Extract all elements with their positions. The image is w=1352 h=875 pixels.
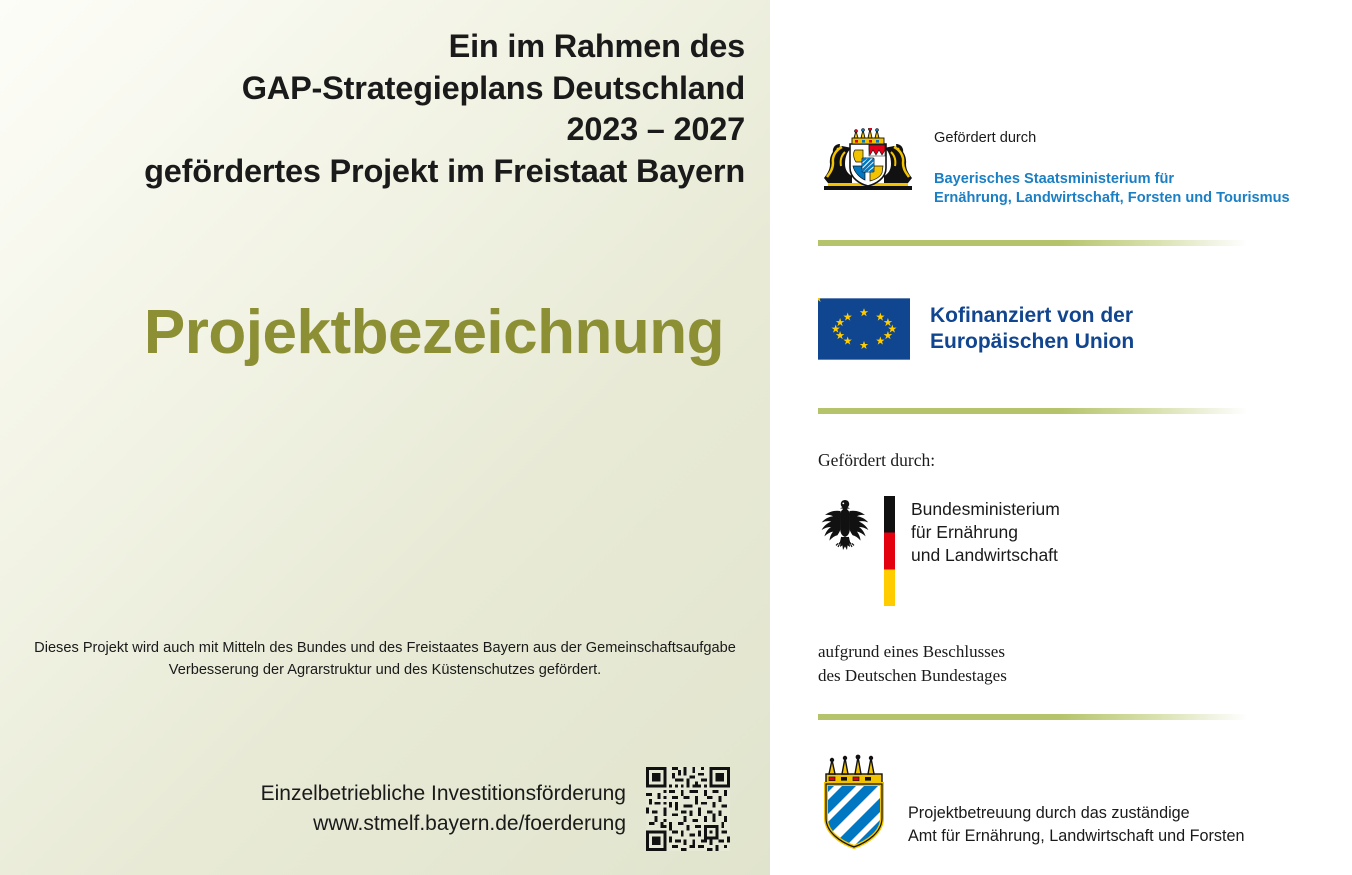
bundestag-resolution-text: aufgrund eines Beschlusses des Deutschen…	[818, 640, 1007, 688]
right-panel: Gefördert durch Bayerisches Staatsminist…	[770, 0, 1352, 875]
headline-line-2: GAP-Strategieplans Deutschland	[20, 68, 745, 110]
funding-note: Dieses Projekt wird auch mit Mitteln des…	[24, 638, 746, 682]
bavarian-greater-coat-of-arms-icon	[818, 128, 918, 194]
bmel-funded-by-label: Gefördert durch:	[818, 450, 935, 471]
headline-line-4: gefördertes Projekt im Freistaat Bayern	[20, 151, 745, 193]
aelf-block: Projektbetreuung durch das zuständige Am…	[818, 752, 1245, 852]
stmelf-logo-block: Gefördert durch Bayerisches Staatsminist…	[818, 128, 1290, 209]
footer-row: Einzelbetriebliche Investitionsförderung…	[24, 767, 730, 851]
bmel-name-line-1: Bundesministerium	[911, 498, 1060, 521]
bmel-name-line-2: für Ernährung	[911, 521, 1060, 544]
funding-notice-poster: Ein im Rahmen des GAP-Strategieplans Deu…	[0, 0, 1352, 875]
stmelf-ministry-line-1: Bayerisches Staatsministerium für	[934, 170, 1290, 190]
eu-text-line-2: Europäischen Union	[930, 329, 1134, 355]
bundestag-line-1: aufgrund eines Beschlusses	[818, 640, 1007, 664]
aelf-line-2: Amt für Ernährung, Landwirtschaft und Fo…	[908, 825, 1245, 848]
stmelf-funded-by-label: Gefördert durch	[934, 130, 1290, 148]
eu-text-line-1: Kofinanziert von der	[930, 303, 1134, 329]
bmel-logo-block: Bundesministerium für Ernährung und Land…	[818, 496, 1060, 606]
european-union-flag-icon	[818, 298, 910, 360]
bundestag-line-2: des Deutschen Bundestages	[818, 664, 1007, 688]
footer-text: Einzelbetriebliche Investitionsförderung…	[261, 779, 626, 840]
bundesadler-icon	[818, 496, 872, 556]
qr-code-icon[interactable]	[646, 767, 730, 851]
stmelf-ministry-line-2: Ernährung, Landwirtschaft, Forsten und T…	[934, 189, 1290, 209]
headline-line-3: 2023 – 2027	[20, 109, 745, 151]
eu-logo-block: Kofinanziert von der Europäischen Union	[818, 298, 1134, 360]
divider-1	[818, 240, 1248, 246]
programme-label: Einzelbetriebliche Investitionsförderung	[261, 779, 626, 809]
headline: Ein im Rahmen des GAP-Strategieplans Deu…	[20, 26, 745, 192]
left-panel: Ein im Rahmen des GAP-Strategieplans Deu…	[0, 0, 770, 875]
german-flag-bar-icon	[884, 496, 895, 606]
aelf-line-1: Projektbetreuung durch das zuständige	[908, 802, 1245, 825]
divider-2	[818, 408, 1248, 414]
headline-line-1: Ein im Rahmen des	[20, 26, 745, 68]
website-url[interactable]: www.stmelf.bayern.de/foerderung	[261, 809, 626, 839]
divider-3	[818, 714, 1248, 720]
page-title: Projektbezeichnung	[0, 302, 724, 364]
bavarian-shield-icon	[818, 752, 890, 852]
bmel-name-line-3: und Landwirtschaft	[911, 544, 1060, 567]
